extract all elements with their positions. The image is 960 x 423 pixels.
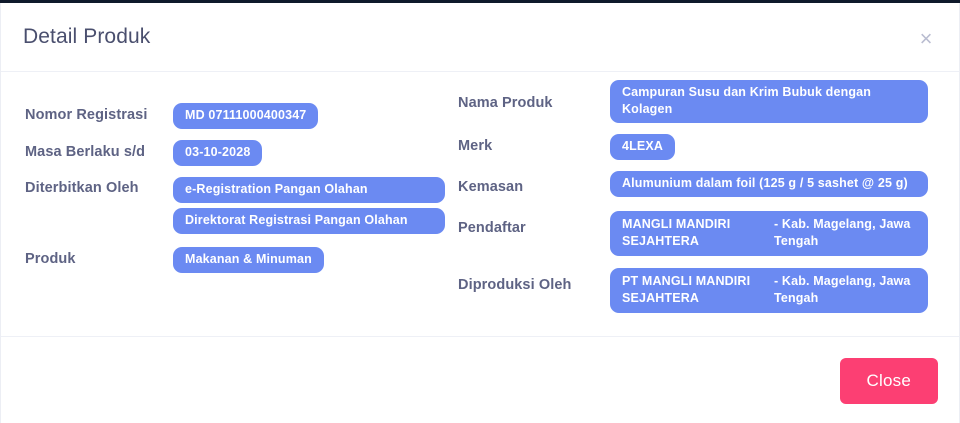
badge-pendaftar: MANGLI MANDIRI SEJAHTERA - Kab. Magelang…: [610, 211, 928, 256]
badge-diproduksi-oleh: PT MANGLI MANDIRI SEJAHTERA - Kab. Magel…: [610, 268, 928, 313]
badge-produk: Makanan & Minuman: [173, 247, 324, 273]
detail-row-pendaftar: Pendaftar MANGLI MANDIRI SEJAHTERA - Kab…: [458, 211, 938, 261]
badge-nama-produk: Campuran Susu dan Krim Bubuk dengan Kola…: [610, 80, 928, 123]
label-diproduksi-oleh: Diproduksi Oleh: [458, 268, 610, 294]
detail-column-right: Nama Produk Campuran Susu dan Krim Bubuk…: [458, 72, 938, 324]
label-masa-berlaku: Masa Berlaku s/d: [25, 140, 173, 161]
badge-merk: 4LEXA: [610, 134, 675, 160]
close-icon[interactable]: ×: [915, 29, 937, 51]
page-title: Detail Produk: [23, 25, 150, 49]
badge-nomor-registrasi: MD 07111000400347: [173, 103, 318, 129]
label-diterbitkan-oleh: Diterbitkan Oleh: [25, 177, 173, 197]
values-merk: 4LEXA: [610, 134, 938, 165]
detail-column-left: Nomor Registrasi MD 07111000400347 Masa …: [25, 72, 445, 284]
badge-kemasan: Alumunium dalam foil (125 g / 5 sashet @…: [610, 171, 928, 197]
label-kemasan: Kemasan: [458, 171, 610, 196]
pendaftar-name: MANGLI MANDIRI SEJAHTERA: [622, 216, 774, 250]
diproduksi-oleh-name: PT MANGLI MANDIRI SEJAHTERA: [622, 273, 774, 307]
product-detail-modal: Detail Produk × Nomor Registrasi MD 0711…: [0, 3, 960, 423]
detail-row-diterbitkan-oleh: Diterbitkan Oleh e-Registration Pangan O…: [25, 177, 445, 239]
badge-diterbitkan-oleh-1: e-Registration Pangan Olahan: [173, 177, 445, 203]
detail-row-merk: Merk 4LEXA: [458, 134, 938, 165]
badge-masa-berlaku: 03-10-2028: [173, 140, 262, 166]
values-kemasan: Alumunium dalam foil (125 g / 5 sashet @…: [610, 171, 938, 202]
values-masa-berlaku: 03-10-2028: [173, 140, 445, 171]
label-produk: Produk: [25, 247, 173, 268]
detail-row-masa-berlaku: Masa Berlaku s/d 03-10-2028: [25, 140, 445, 171]
modal-body: Nomor Registrasi MD 07111000400347 Masa …: [1, 72, 959, 337]
close-button[interactable]: Close: [840, 358, 938, 404]
values-pendaftar: MANGLI MANDIRI SEJAHTERA - Kab. Magelang…: [610, 211, 938, 261]
badge-diterbitkan-oleh-2: Direktorat Registrasi Pangan Olahan: [173, 208, 445, 234]
detail-row-diproduksi-oleh: Diproduksi Oleh PT MANGLI MANDIRI SEJAHT…: [458, 268, 938, 318]
modal-footer: Close: [1, 337, 959, 422]
values-nama-produk: Campuran Susu dan Krim Bubuk dengan Kola…: [610, 80, 938, 128]
detail-row-nama-produk: Nama Produk Campuran Susu dan Krim Bubuk…: [458, 80, 938, 128]
diproduksi-oleh-location: - Kab. Magelang, Jawa Tengah: [774, 273, 916, 307]
values-produk: Makanan & Minuman: [173, 247, 445, 278]
detail-row-kemasan: Kemasan Alumunium dalam foil (125 g / 5 …: [458, 171, 938, 202]
values-diterbitkan-oleh: e-Registration Pangan Olahan Direktorat …: [173, 177, 445, 239]
label-nama-produk: Nama Produk: [458, 80, 610, 112]
values-nomor-registrasi: MD 07111000400347: [173, 103, 445, 134]
label-merk: Merk: [458, 134, 610, 155]
detail-row-produk: Produk Makanan & Minuman: [25, 247, 445, 278]
pendaftar-location: - Kab. Magelang, Jawa Tengah: [774, 216, 916, 250]
modal-header: Detail Produk ×: [1, 3, 959, 72]
label-pendaftar: Pendaftar: [458, 211, 610, 237]
detail-row-nomor-registrasi: Nomor Registrasi MD 07111000400347: [25, 103, 445, 134]
values-diproduksi-oleh: PT MANGLI MANDIRI SEJAHTERA - Kab. Magel…: [610, 268, 938, 318]
label-nomor-registrasi: Nomor Registrasi: [25, 103, 173, 124]
